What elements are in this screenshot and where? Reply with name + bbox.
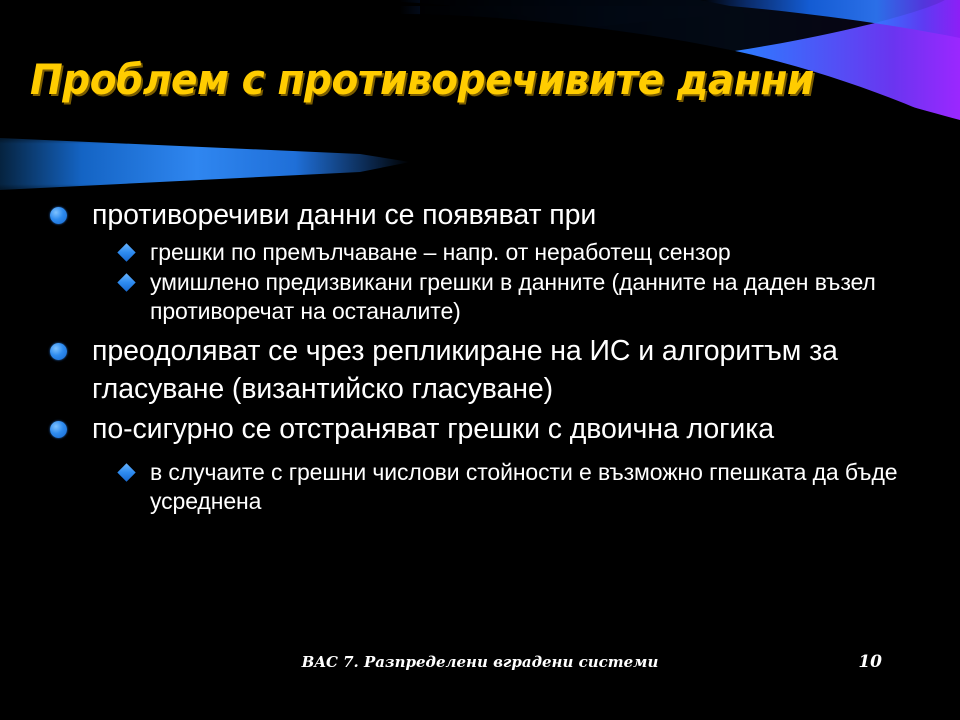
bullet-item: противоречиви данни се появяват при: [36, 196, 926, 234]
sub-bullet-item: умишлено предизвикани грешки в данните (…: [36, 268, 926, 326]
sub-bullet-group: в случаите с грешни числови стойности е …: [36, 458, 926, 516]
bullet-item: по-сигурно се отстраняват грешки с двоич…: [36, 410, 926, 448]
left-blue-streak-decoration: [0, 128, 420, 200]
bullet-text: противоречиви данни се появяват при: [92, 199, 596, 231]
slide-footer: BAC 7. Разпределени вградени системи 10: [0, 652, 960, 712]
sub-bullet-item: грешки по премълчаване – напр. от нерабо…: [36, 238, 926, 267]
sub-bullet-text: грешки по премълчаване – напр. от нерабо…: [150, 239, 731, 265]
slide-body: противоречиви данни се появяват при греш…: [36, 196, 926, 517]
footer-title: BAC 7. Разпределени вградени системи: [250, 652, 710, 673]
diamond-bullet-icon: [117, 243, 135, 261]
sub-bullet-text: в случаите с грешни числови стойности е …: [150, 459, 897, 514]
bullet-text: преодоляват се чрез репликиране на ИС и …: [92, 335, 838, 405]
sub-bullet-text: умишлено предизвикани грешки в данните (…: [150, 269, 876, 324]
streak-graphic: [0, 128, 420, 200]
bullet-item: преодоляват се чрез репликиране на ИС и …: [36, 332, 926, 408]
slide-number: 10: [858, 652, 882, 673]
sub-bullet-group: грешки по премълчаване – напр. от нерабо…: [36, 238, 926, 326]
filled-circle-bullet-icon: [50, 343, 67, 360]
bullet-text: по-сигурно се отстраняват грешки с двоич…: [92, 413, 774, 445]
slide-title: Проблем с противоречивите данни: [30, 56, 848, 104]
slide-canvas: Проблем с противоречивите данни противор…: [0, 0, 960, 720]
filled-circle-bullet-icon: [50, 421, 67, 438]
diamond-bullet-icon: [117, 273, 135, 291]
diamond-bullet-icon: [117, 463, 135, 481]
filled-circle-bullet-icon: [50, 207, 67, 224]
sub-bullet-item: в случаите с грешни числови стойности е …: [36, 458, 926, 516]
